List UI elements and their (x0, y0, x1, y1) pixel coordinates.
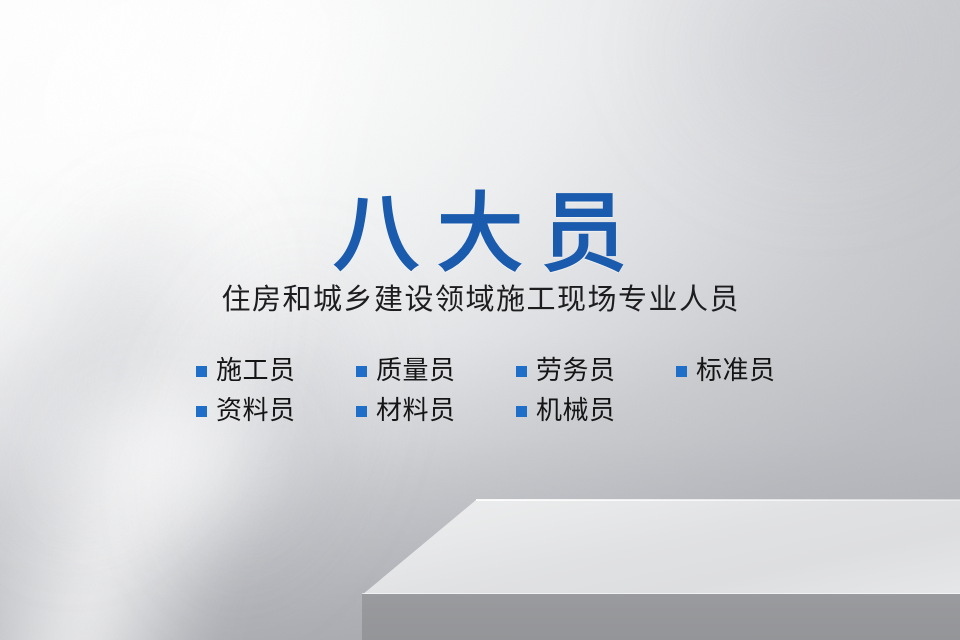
role-row: 施工员 质量员 劳务员 标准员 (196, 350, 796, 390)
role-item-laowuyuan[interactable]: 劳务员 (516, 357, 676, 383)
poster-canvas: 八大员 住房和城乡建设领域施工现场专业人员 施工员 质量员 劳务员 标准员 (0, 0, 960, 640)
role-label: 材料员 (376, 397, 456, 423)
podium-back-edge (476, 499, 960, 501)
role-item-cailiaoyuan[interactable]: 材料员 (356, 397, 516, 423)
square-bullet-icon (516, 406, 527, 417)
role-label: 施工员 (216, 357, 296, 383)
role-item-biaozhunyuan[interactable]: 标准员 (676, 357, 836, 383)
square-bullet-icon (516, 366, 527, 377)
page-subtitle: 住房和城乡建设领域施工现场专业人员 (0, 286, 960, 315)
podium-front-face (362, 594, 960, 640)
square-bullet-icon (356, 406, 367, 417)
role-label: 劳务员 (536, 357, 616, 383)
role-item-zhiliangyuan[interactable]: 质量员 (356, 357, 516, 383)
role-label: 资料员 (216, 397, 296, 423)
role-item-ziliaoyuan[interactable]: 资料员 (196, 397, 356, 423)
role-label: 质量员 (376, 357, 456, 383)
square-bullet-icon (196, 366, 207, 377)
square-bullet-icon (676, 366, 687, 377)
role-row: 资料员 材料员 机械员 (196, 390, 796, 430)
role-label: 标准员 (696, 357, 776, 383)
podium-platform (0, 494, 960, 640)
role-item-jixieyuan[interactable]: 机械员 (516, 397, 676, 423)
square-bullet-icon (196, 406, 207, 417)
role-list: 施工员 质量员 劳务员 标准员 资料员 材料员 (196, 350, 796, 430)
page-title: 八大员 (0, 191, 960, 277)
role-item-shigongyuan[interactable]: 施工员 (196, 357, 356, 383)
square-bullet-icon (356, 366, 367, 377)
podium-top-bevel (0, 494, 960, 598)
role-label: 机械员 (536, 397, 616, 423)
